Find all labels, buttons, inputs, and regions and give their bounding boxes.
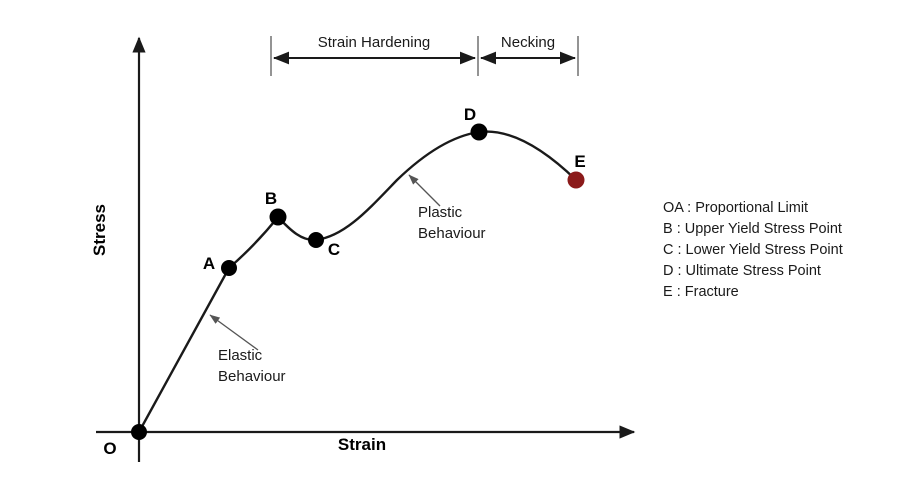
data-point-e	[568, 172, 585, 189]
legend-item-d: D : Ultimate Stress Point	[663, 263, 821, 279]
data-point-c	[308, 232, 324, 248]
elastic-behaviour-line1: Elastic	[218, 347, 263, 364]
data-point-label-c: C	[328, 240, 340, 259]
stress-strain-diagram: Strain Hardening Necking Stress Strain O…	[0, 0, 919, 494]
plastic-behaviour-line2: Behaviour	[418, 225, 486, 242]
legend-item-e: E : Fracture	[663, 284, 739, 300]
data-point-label-b: B	[265, 189, 277, 208]
plastic-behaviour-line1: Plastic	[418, 204, 463, 221]
bracket-label-necking: Necking	[501, 34, 555, 51]
data-point-a	[221, 260, 237, 276]
data-point-label-a: A	[203, 254, 215, 273]
bracket-label-strain-hardening: Strain Hardening	[318, 34, 431, 51]
x-axis-label: Strain	[338, 435, 386, 454]
data-point-d	[471, 124, 488, 141]
legend-item-c: C : Lower Yield Stress Point	[663, 242, 843, 258]
origin-label: O	[103, 439, 116, 458]
data-point-label-d: D	[464, 105, 476, 124]
y-axis-label: Stress	[90, 204, 109, 256]
legend-item-oa: OA : Proportional Limit	[663, 200, 808, 216]
data-point-label-e: E	[574, 152, 585, 171]
data-point-o	[131, 424, 147, 440]
elastic-behaviour-line2: Behaviour	[218, 368, 286, 385]
legend-item-b: B : Upper Yield Stress Point	[663, 221, 842, 237]
data-point-b	[270, 209, 287, 226]
